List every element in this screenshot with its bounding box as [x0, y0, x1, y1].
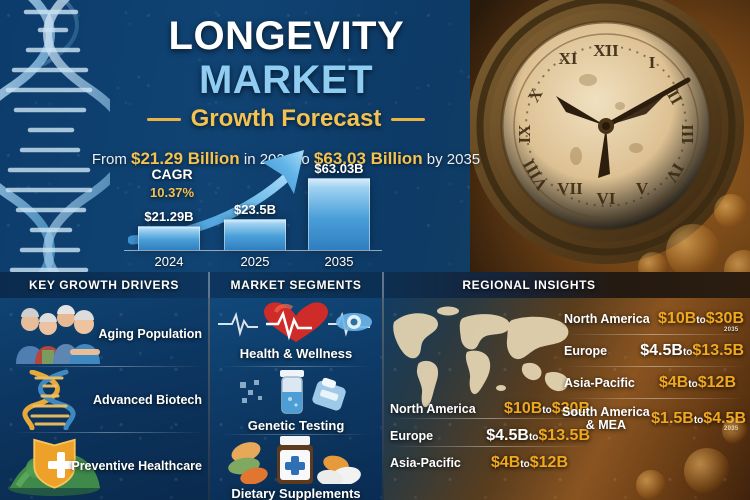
pill-bottle-icon [224, 436, 370, 484]
ap-from: $4B [659, 374, 688, 391]
ov-ap-from: $4B [491, 454, 520, 471]
bar-value-2035: $63.03B [314, 161, 363, 176]
na-to-word: to [696, 315, 705, 326]
region-row-overlay-europe[interactable]: Europe $4.5Bto$13.5B [390, 427, 590, 445]
na-from: $10B [658, 310, 696, 327]
svg-text:VII: VII [557, 179, 583, 198]
region-separator-overlay-2 [392, 446, 587, 447]
bar-2025: $23.5B [224, 219, 286, 250]
title-word-market: MARKET [199, 58, 373, 102]
sa-from: $1.5B [651, 410, 694, 427]
panel-header-drivers: KEY GROWTH DRIVERS [0, 272, 208, 298]
region-year-north-america: 2035 [724, 327, 739, 333]
region-name-south-america-mea: South America & MEA [562, 406, 650, 432]
driver-item-aging-population[interactable]: Aging Population [0, 302, 208, 366]
svg-text:VI: VI [597, 189, 616, 208]
driver-item-advanced-biotech[interactable]: Advanced Biotech [0, 368, 208, 432]
summary-suffix: by 2035 [427, 151, 480, 168]
bar-2035: $63.03B [308, 178, 370, 250]
driver-separator-2 [14, 432, 204, 433]
region-value-overlay-asia-pacific: $4Bto$12B [491, 454, 568, 472]
panel-key-growth-drivers: Aging Population [0, 298, 208, 500]
region-value-north-america: $10Bto$30B [658, 310, 744, 328]
bar-value-2025: $23.5B [234, 202, 276, 217]
world-map-icon [388, 300, 576, 410]
driver-separator-1 [14, 366, 204, 367]
region-name-overlay-asia-pacific: Asia-Pacific [390, 457, 461, 470]
x-label-2025: 2025 [224, 254, 286, 269]
region-row-south-america-mea[interactable]: South America & MEA $1.5Bto$4.5B [562, 406, 746, 432]
region-separator-3 [566, 398, 744, 399]
region-value-europe: $4.5Bto$13.5B [640, 342, 744, 360]
bars-group: $21.29B $23.5B $63.03B [128, 162, 378, 250]
bokeh-decor-3 [722, 418, 748, 444]
eu-to: $13.5B [692, 342, 744, 359]
region-name-europe: Europe [564, 345, 607, 358]
infographic-root: XII I II III IV V VI VII VIII IX X XI [0, 0, 750, 500]
ap-to-word: to [688, 379, 697, 390]
region-value-asia-pacific: $4Bto$12B [659, 374, 736, 392]
panel-header-regional: REGIONAL INSIGHTS [384, 272, 674, 298]
vintage-clock-image: XII I II III IV V VI VII VIII IX X XI [470, 0, 750, 272]
summary-prefix: From [92, 151, 127, 168]
bar-value-2024: $21.29B [144, 209, 193, 224]
ov-na-to-word: to [542, 405, 551, 416]
ov-eu-from: $4.5B [486, 427, 529, 444]
svg-text:V: V [636, 179, 649, 198]
region-separator-overlay-1 [392, 418, 587, 419]
subtitle-row: Growth Forecast [86, 105, 486, 133]
segment-separator-1 [220, 366, 372, 367]
sa-to-word: to [694, 415, 703, 426]
eu-to-word: to [683, 347, 692, 358]
elderly-group-icon [8, 304, 104, 364]
driver-label-aging-population: Aging Population [99, 327, 202, 341]
panel-header-segments: MARKET SEGMENTS [210, 272, 382, 298]
segment-separator-2 [220, 434, 372, 435]
region-row-overlay-asia-pacific[interactable]: Asia-Pacific $4Bto$12B [390, 454, 568, 472]
eu-from: $4.5B [640, 342, 683, 359]
region-row-europe[interactable]: Europe $4.5Bto$13.5B [564, 342, 744, 360]
title-block: LONGEVITY MARKET Growth Forecast From $2… [86, 14, 486, 169]
region-name-overlay-europe: Europe [390, 430, 433, 443]
ov-na-from: $10B [504, 400, 542, 417]
page-subtitle: Growth Forecast [191, 105, 382, 133]
panel-regional-insights: North America $10Bto$30B 2035 Europe $4.… [384, 298, 750, 500]
dna-helix-icon [20, 370, 80, 430]
test-tube-icon [240, 368, 352, 416]
svg-text:III: III [678, 124, 697, 144]
region-name-overlay-north-america: North America [390, 403, 476, 416]
region-row-overlay-north-america[interactable]: North America $10Bto$30B [390, 400, 590, 418]
region-separator-1 [566, 334, 744, 335]
segment-label-dietary-supplements: Dietary Supplements [210, 486, 382, 500]
dash-right-icon [391, 118, 425, 121]
svg-text:I: I [649, 53, 656, 72]
region-row-asia-pacific[interactable]: Asia-Pacific $4Bto$12B [564, 374, 736, 392]
page-title: LONGEVITY MARKET [86, 14, 486, 102]
dash-left-icon [147, 118, 181, 121]
driver-item-preventive-healthcare[interactable]: Preventive Healthcare [0, 434, 208, 498]
chart-baseline [124, 250, 382, 251]
ap-to: $12B [698, 374, 736, 391]
title-word-longevity: LONGEVITY [169, 14, 404, 58]
bar-2024: $21.29B [138, 226, 200, 250]
growth-bar-chart: CAGR 10.37% $21.29B $23.5B $63.03B 2024 … [128, 148, 378, 272]
segment-label-genetic-testing: Genetic Testing [210, 418, 382, 433]
x-label-2024: 2024 [138, 254, 200, 269]
bokeh-decor-2 [636, 470, 666, 500]
ov-ap-to: $12B [530, 454, 568, 471]
x-label-2035: 2035 [308, 254, 370, 269]
ov-ap-to-word: to [520, 459, 529, 470]
region-name-asia-pacific: Asia-Pacific [564, 377, 635, 390]
bokeh-decor-1 [684, 448, 730, 494]
panel-market-segments: Health & Wellness [210, 298, 382, 500]
region-row-north-america[interactable]: North America $10Bto$30B [564, 310, 744, 328]
na-to: $30B [706, 310, 744, 327]
heart-ecg-icon [216, 300, 376, 344]
segment-label-health-wellness: Health & Wellness [210, 346, 382, 361]
region-name-north-america: North America [564, 313, 650, 326]
region-separator-2 [566, 366, 744, 367]
svg-text:XII: XII [593, 41, 619, 60]
svg-text:IX: IX [515, 124, 534, 144]
header-section: XII I II III IV V VI VII VIII IX X XI [0, 0, 750, 272]
driver-label-preventive-healthcare: Preventive Healthcare [71, 459, 202, 473]
ov-eu-to-word: to [529, 432, 538, 443]
driver-label-advanced-biotech: Advanced Biotech [93, 393, 202, 407]
